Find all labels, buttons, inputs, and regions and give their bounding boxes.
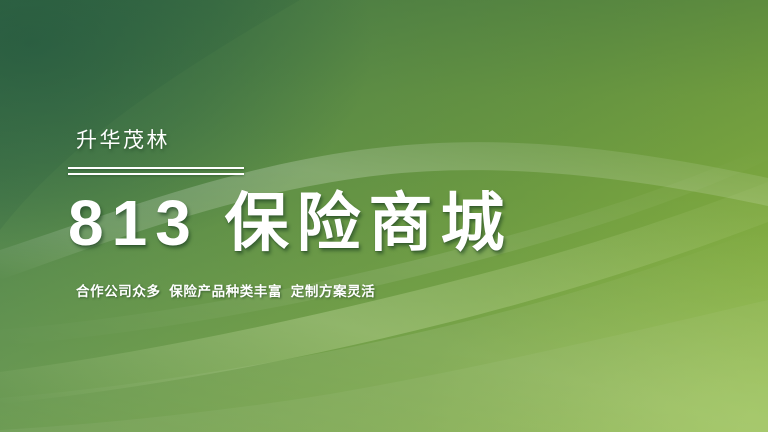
double-rule-divider bbox=[68, 167, 244, 177]
banner-content: 升华茂林 813 保险商城 合作公司众多 保险产品种类丰富 定制方案灵活 bbox=[68, 130, 708, 299]
banner-subtitle: 合作公司众多 保险产品种类丰富 定制方案灵活 bbox=[76, 285, 708, 299]
rule-line-bottom bbox=[68, 173, 244, 175]
page-title: 813 保险商城 bbox=[68, 191, 708, 255]
promo-banner: 升华茂林 813 保险商城 合作公司众多 保险产品种类丰富 定制方案灵活 bbox=[0, 0, 768, 432]
rule-line-top bbox=[68, 167, 244, 169]
brand-eyebrow: 升华茂林 bbox=[76, 130, 708, 151]
